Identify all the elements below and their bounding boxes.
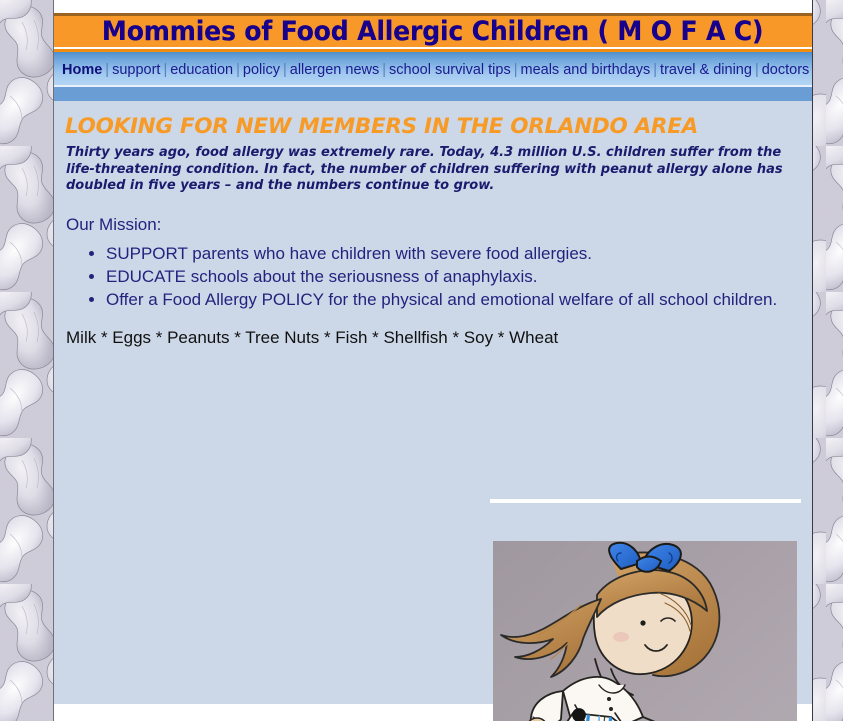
girl-illustration: MOMMIES OF FOOD ALLERGIC CHILDREN — [493, 541, 797, 721]
list-item: Offer a Food Allergy POLICY for the phys… — [106, 289, 800, 311]
nav-separator: | — [379, 62, 389, 78]
nav-bottom-strip — [54, 87, 812, 101]
intro-paragraph: Thirty years ago, food allergy was extre… — [66, 145, 786, 195]
nav-item-travel-and-dining[interactable]: travel & dining — [660, 62, 752, 78]
list-item: SUPPORT parents who have children with s… — [106, 243, 800, 265]
nav-item-meals-and-birthdays[interactable]: meals and birthdays — [521, 62, 651, 78]
site-title: Mommies of Food Allergic Children ( M O … — [102, 18, 763, 45]
allergen-list-line: Milk * Eggs * Peanuts * Tree Nuts * Fish… — [66, 328, 800, 348]
list-item: EDUCATE schools about the seriousness of… — [106, 266, 800, 288]
top-white-gap — [54, 0, 812, 13]
nav-separator: | — [160, 62, 170, 78]
nav-links-row: Home|support|education|policy|allergen n… — [62, 61, 804, 79]
nav-item-policy[interactable]: policy — [243, 62, 280, 78]
main-content: LOOKING FOR NEW MEMBERS IN THE ORLANDO A… — [54, 101, 812, 704]
nav-separator: | — [752, 62, 762, 78]
nav-item-education[interactable]: education — [170, 62, 233, 78]
mission-label: Our Mission: — [66, 215, 800, 235]
nav-separator: | — [650, 62, 660, 78]
nav-separator: | — [511, 62, 521, 78]
main-navigation: Home|support|education|policy|allergen n… — [54, 52, 812, 87]
mission-list: SUPPORT parents who have children with s… — [66, 243, 800, 311]
nav-item-doctors[interactable]: doctors — [762, 62, 810, 78]
nav-item-home[interactable]: Home — [62, 62, 102, 78]
nav-item-allergen-news[interactable]: allergen news — [290, 62, 379, 78]
horizontal-rule — [490, 499, 801, 503]
page-content-column: Mommies of Food Allergic Children ( M O … — [53, 0, 813, 721]
page-headline: LOOKING FOR NEW MEMBERS IN THE ORLANDO A… — [65, 114, 800, 139]
nav-separator: | — [233, 62, 243, 78]
site-banner: Mommies of Food Allergic Children ( M O … — [54, 13, 812, 49]
nav-separator: | — [102, 62, 112, 78]
nav-item-support[interactable]: support — [112, 62, 160, 78]
nav-separator: | — [280, 62, 290, 78]
nav-item-school-survival-tips[interactable]: school survival tips — [389, 62, 511, 78]
